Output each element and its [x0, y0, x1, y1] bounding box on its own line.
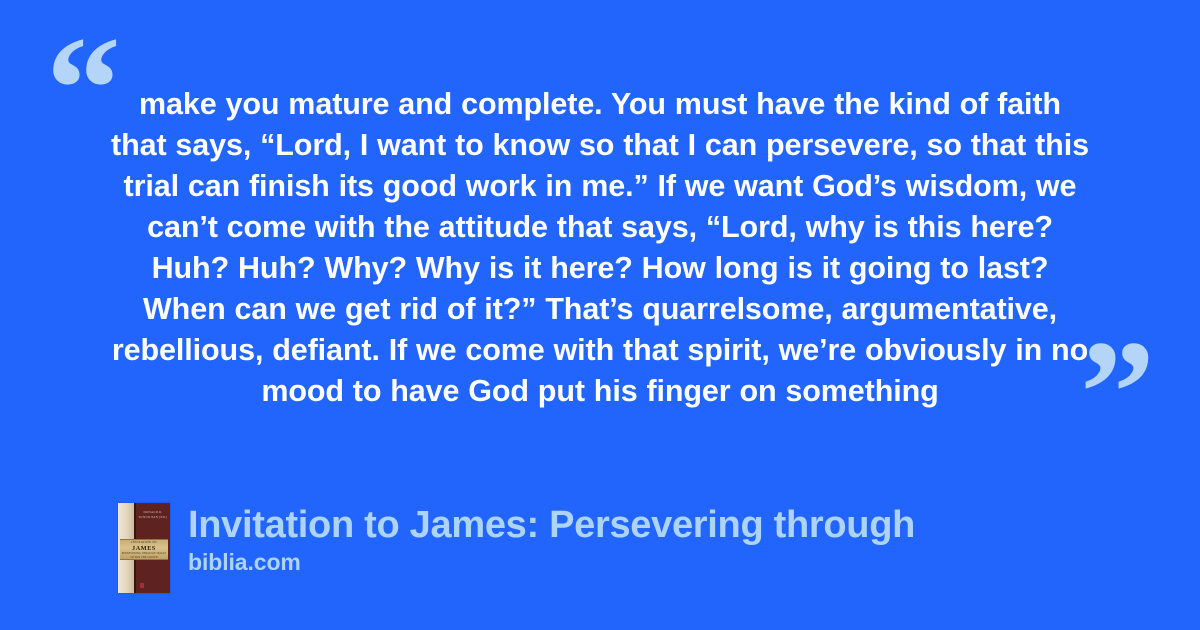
book-title: Invitation to James: Persevering through: [188, 505, 915, 546]
quote-body: make you mature and complete. You must h…: [108, 84, 1092, 412]
quote-text: make you mature and complete. You must h…: [108, 84, 1092, 412]
book-cover-author: DONALD R. SUNUKJIAN (ED.): [138, 510, 168, 519]
book-cover-thumbnail: DONALD R. SUNUKJIAN (ED.) INVITATION TO …: [118, 503, 170, 593]
closing-quote-icon: ”: [1080, 318, 1155, 468]
publisher-logo-icon: [140, 583, 144, 588]
quote-card: “ make you mature and complete. You must…: [0, 0, 1200, 630]
source-site: biblia.com: [188, 550, 915, 575]
book-cover-publisher: [140, 583, 146, 588]
attribution-text-group: Invitation to James: Persevering through…: [188, 503, 915, 575]
attribution-footer: DONALD R. SUNUKJIAN (ED.) INVITATION TO …: [118, 503, 915, 593]
book-cover-label-subtitle: PERSEVERING THROUGH TRIALS TO WIN THE CR…: [120, 552, 168, 560]
book-cover-label-title: JAMES: [120, 545, 168, 553]
book-cover-label: INVITATION TO JAMES PERSEVERING THROUGH …: [120, 539, 168, 560]
